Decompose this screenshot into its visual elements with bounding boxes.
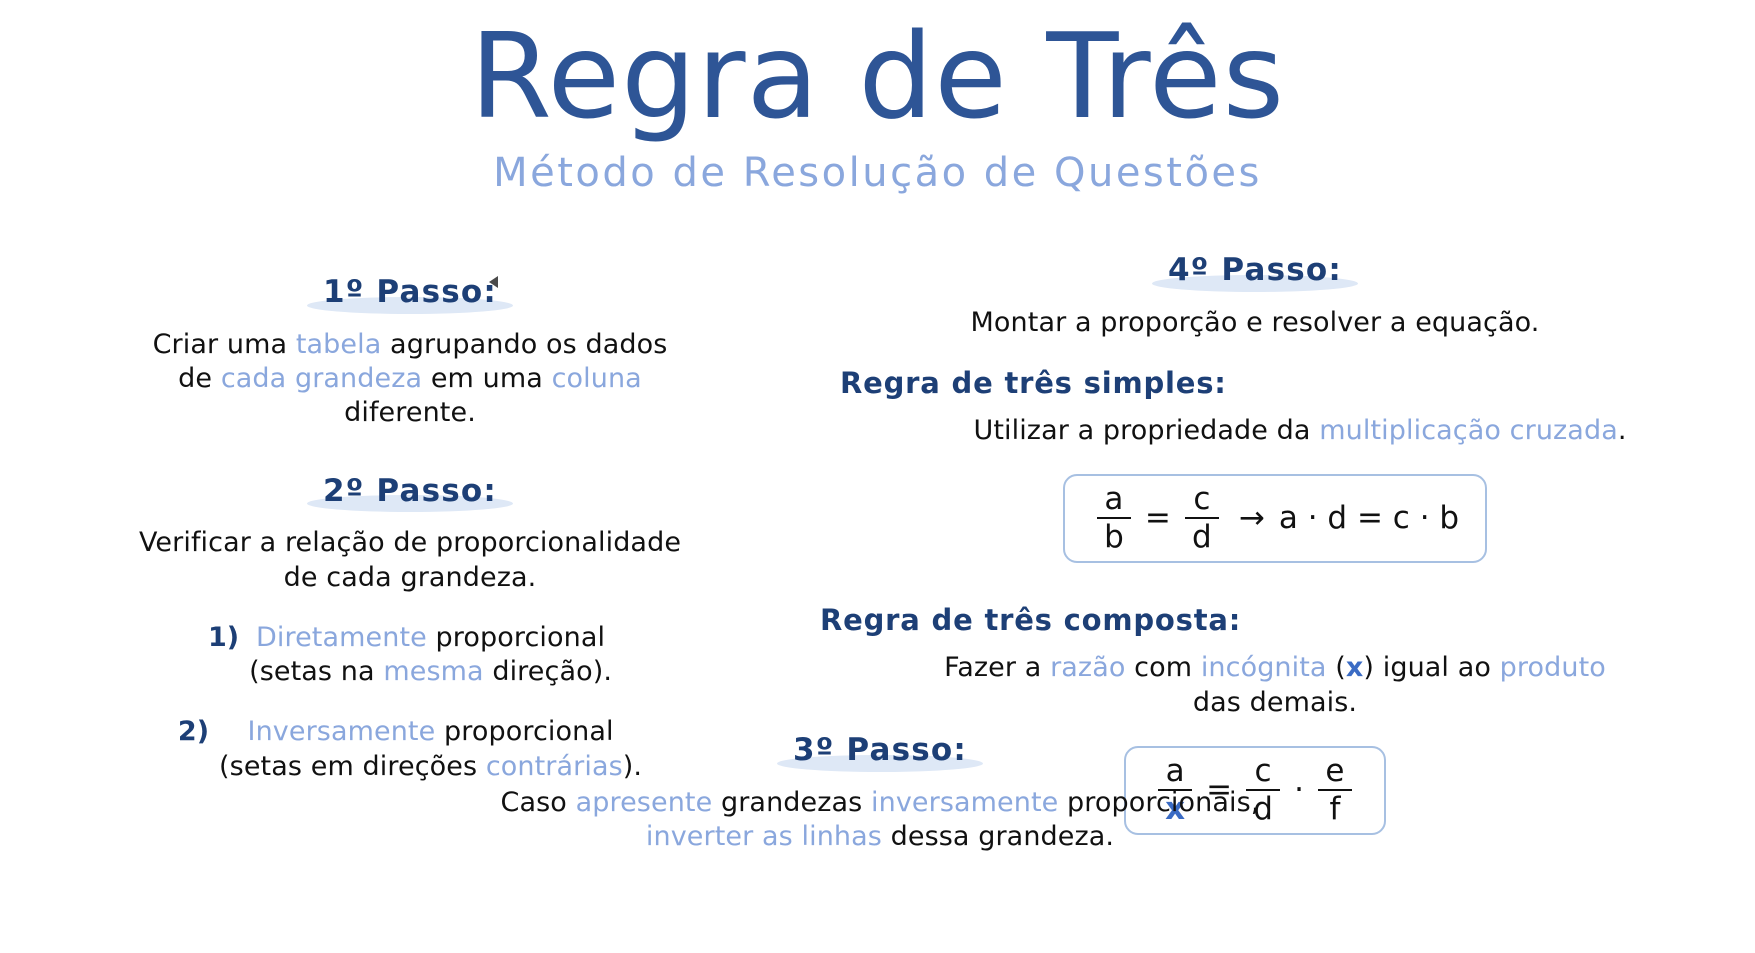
- step-4-heading: 4º Passo:: [1152, 250, 1358, 292]
- simple-rule-body: Utilizar a propriedade da multiplicação …: [790, 414, 1720, 448]
- right-arrow-icon: →: [1239, 503, 1265, 534]
- composite-line1-c: (: [1327, 652, 1346, 683]
- step-1-body: Criar uma tabela agrupando os dados de c…: [60, 328, 760, 431]
- left-column: 1º Passo: Criar uma tabela agrupando os …: [60, 272, 760, 784]
- step-4-intro: Montar a proporção e resolver a equação.: [790, 306, 1720, 340]
- item1-line1-rest: proporcional: [427, 622, 605, 653]
- simple-line-b: .: [1618, 415, 1627, 446]
- composite-line1-b: com: [1125, 652, 1200, 683]
- simple-rule-heading: Regra de três simples:: [840, 366, 1227, 400]
- step-3-heading: 3º Passo:: [777, 730, 983, 772]
- step-2-heading: 2º Passo:: [307, 471, 513, 513]
- step1-line2-highlight-2: coluna: [552, 363, 642, 394]
- page-subtitle: Método de Resolução de Questões: [0, 145, 1755, 195]
- simple-formula-wrap: a b = c d → a · d = c · b: [790, 474, 1720, 563]
- step1-line2-a: de: [178, 363, 221, 394]
- simple-line-highlight: multiplicação cruzada: [1319, 415, 1618, 446]
- step1-line1-b: agrupando os dados: [381, 329, 667, 360]
- list-item-marker: 2): [178, 715, 219, 749]
- composite-rule-body: Fazer a razão com incógnita (x) igual ao…: [790, 651, 1720, 720]
- step-4-heading-wrap: 4º Passo:: [790, 250, 1720, 292]
- item1-line2-b: direção).: [484, 656, 612, 687]
- step2-line1: Verificar a relação de proporcionalidade: [139, 527, 681, 558]
- step-2-body: Verificar a relação de proporcionalidade…: [60, 526, 760, 595]
- fraction-numerator: a: [1097, 484, 1131, 517]
- step3-line2-highlight: inverter as linhas: [646, 821, 882, 852]
- step1-line2-highlight-1: cada grandeza: [221, 363, 422, 394]
- step1-line1-a: Criar uma: [153, 329, 296, 360]
- composite-line1-a: Fazer a: [944, 652, 1050, 683]
- step2-line2: de cada grandeza.: [284, 562, 537, 593]
- step3-line1-a: Caso: [501, 787, 576, 818]
- fraction-c-over-d: c d: [1185, 484, 1219, 553]
- step3-line1-b: grandezas: [712, 787, 871, 818]
- step-1-heading-wrap: 1º Passo:: [60, 272, 760, 314]
- step-3-heading-wrap: 3º Passo:: [380, 730, 1380, 772]
- item1-line1-highlight: Diretamente: [256, 622, 427, 653]
- step1-line3: diferente.: [344, 397, 476, 428]
- composite-line2: das demais.: [1193, 687, 1357, 718]
- fraction-denominator: b: [1097, 517, 1131, 553]
- fraction-numerator: c: [1185, 484, 1219, 517]
- title-block: Regra de Três Método de Resolução de Que…: [0, 0, 1755, 195]
- step-1-heading: 1º Passo:: [307, 272, 513, 314]
- composite-line1-d: ) igual ao: [1363, 652, 1499, 683]
- fraction-denominator: d: [1185, 517, 1219, 553]
- step3-line2-rest: dessa grandeza.: [882, 821, 1114, 852]
- step-2-heading-wrap: 2º Passo:: [60, 471, 760, 513]
- composite-rule-heading: Regra de três composta:: [820, 603, 1241, 637]
- step3-line1-c: proporcionais,: [1058, 787, 1259, 818]
- simple-line-a: Utilizar a propriedade da: [973, 415, 1319, 446]
- list-item-body: Diretamente proporcional (setas na mesma…: [249, 621, 612, 690]
- list-item: 1) Diretamente proporcional (setas na me…: [60, 621, 760, 690]
- page-title: Regra de Três: [0, 0, 1755, 145]
- step3-line1-highlight-1: apresente: [576, 787, 713, 818]
- composite-rule-heading-wrap: Regra de três composta:: [790, 603, 1720, 637]
- list-item-marker: 1): [208, 621, 249, 655]
- simple-rule-heading-wrap: Regra de três simples:: [790, 366, 1720, 400]
- unknown-variable-x: x: [1346, 652, 1364, 683]
- composite-line1-highlight-2: incógnita: [1201, 652, 1327, 683]
- cross-multiplication-result: a · d = c · b: [1279, 503, 1459, 534]
- step3-line1-highlight-2: inversamente: [871, 787, 1058, 818]
- step-3-body: Caso apresente grandezas inversamente pr…: [380, 786, 1380, 855]
- step1-line1-highlight: tabela: [296, 329, 382, 360]
- composite-line1-highlight-1: razão: [1050, 652, 1125, 683]
- step1-line2-b: em uma: [422, 363, 551, 394]
- equals-sign: =: [1145, 503, 1171, 534]
- item1-line2-highlight: mesma: [383, 656, 483, 687]
- composite-line1-highlight-3: produto: [1500, 652, 1606, 683]
- item1-line2-a: (setas na: [249, 656, 383, 687]
- step-3-block: 3º Passo: Caso apresente grandezas inver…: [380, 730, 1380, 854]
- simple-formula-box: a b = c d → a · d = c · b: [1063, 474, 1487, 563]
- fraction-a-over-b: a b: [1097, 484, 1131, 553]
